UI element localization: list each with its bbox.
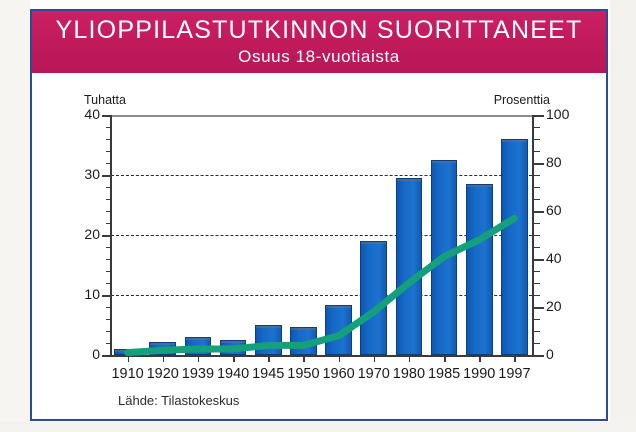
x-tick-label: 1997	[492, 366, 536, 382]
right-axis-title: Prosenttia	[494, 93, 550, 107]
x-tick-mark	[303, 356, 305, 362]
right-tick-mark	[534, 211, 544, 213]
paper-margin-right	[610, 0, 636, 432]
right-minor-tick	[534, 235, 540, 236]
right-minor-tick	[534, 295, 540, 296]
left-tick-label: 20	[66, 226, 100, 242]
x-tick-mark	[409, 356, 411, 362]
right-tick-mark	[534, 307, 544, 309]
right-tick-label: 40	[546, 250, 586, 266]
right-tick-mark	[534, 115, 544, 117]
right-tick-label: 0	[546, 346, 586, 362]
percentage-line-series	[110, 115, 532, 356]
x-tick-mark	[514, 356, 516, 362]
left-axis-title: Tuhatta	[84, 93, 126, 107]
right-minor-tick	[534, 343, 540, 344]
x-tick-mark	[374, 356, 376, 362]
x-tick-mark	[479, 356, 481, 362]
paper-margin-left	[0, 0, 30, 432]
x-tick-mark	[233, 356, 235, 362]
x-tick-mark	[198, 356, 200, 362]
left-tick-label: 10	[66, 286, 100, 302]
right-minor-tick	[534, 271, 540, 272]
right-minor-tick	[534, 331, 540, 332]
right-minor-tick	[534, 151, 540, 152]
right-minor-tick	[534, 223, 540, 224]
plot-area: Tuhatta Prosenttia 010203040 02040608010…	[32, 75, 606, 420]
right-minor-tick	[534, 199, 540, 200]
right-tick-label: 80	[546, 154, 586, 170]
chart-page: YLIOPPILASTUTKINNON SUORITTANEET Osuus 1…	[0, 0, 636, 432]
x-tick-mark	[163, 356, 165, 362]
x-tick-mark	[268, 356, 270, 362]
right-tick-label: 20	[546, 298, 586, 314]
chart-subtitle: Osuus 18-vuotiaista	[32, 47, 606, 67]
right-tick-mark	[534, 259, 544, 261]
right-minor-tick	[534, 247, 540, 248]
source-note: Lähde: Tilastokeskus	[118, 393, 239, 408]
right-minor-tick	[534, 283, 540, 284]
right-tick-label: 100	[546, 106, 586, 122]
right-tick-mark	[534, 355, 544, 357]
right-minor-tick	[534, 187, 540, 188]
right-minor-tick	[534, 127, 540, 128]
paper-margin-bottom	[0, 422, 636, 432]
x-tick-mark	[444, 356, 446, 362]
right-tick-mark	[534, 163, 544, 165]
chart-title: YLIOPPILASTUTKINNON SUORITTANEET	[32, 16, 606, 45]
right-minor-tick	[534, 139, 540, 140]
x-tick-mark	[128, 356, 130, 362]
bars-and-line	[110, 115, 532, 355]
right-minor-tick	[534, 319, 540, 320]
left-tick-label: 0	[66, 346, 100, 362]
x-tick-mark	[339, 356, 341, 362]
right-minor-tick	[534, 175, 540, 176]
left-tick-label: 30	[66, 166, 100, 182]
chart-header-band: YLIOPPILASTUTKINNON SUORITTANEET Osuus 1…	[32, 11, 606, 73]
left-tick-label: 40	[66, 106, 100, 122]
right-tick-label: 60	[546, 202, 586, 218]
